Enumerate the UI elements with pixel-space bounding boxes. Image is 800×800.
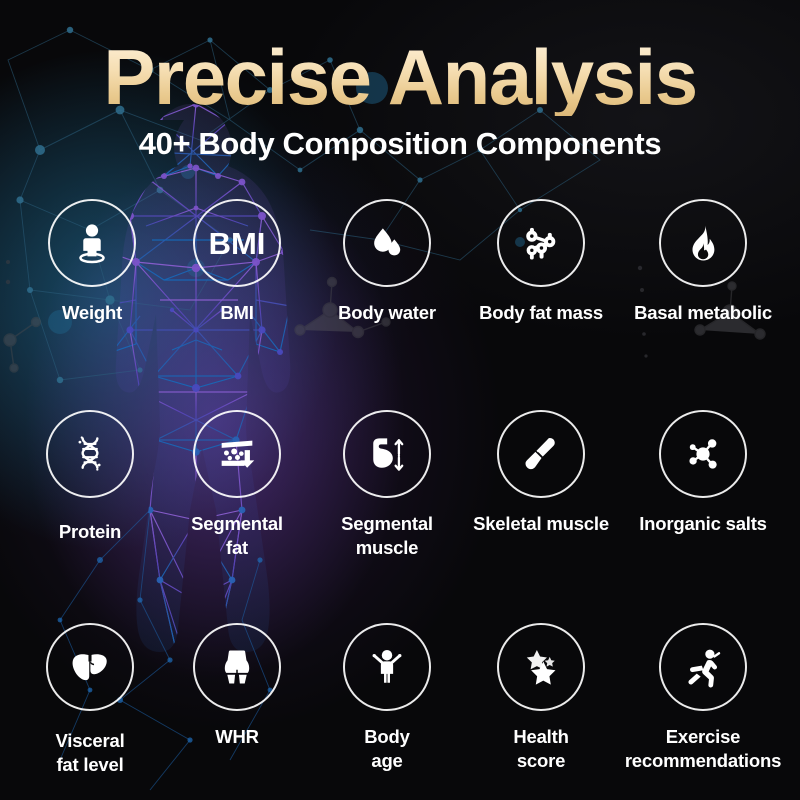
feature-label: Inorganic salts <box>618 512 788 536</box>
feature-label: Segmental fat <box>152 512 322 559</box>
stars-icon <box>497 623 585 711</box>
flame-icon <box>659 199 747 287</box>
page-title: Precise Analysis <box>0 38 800 116</box>
feature-item-basal-metabolic[interactable]: Basal metabolic <box>618 199 788 325</box>
bmi-icon-text: BMI <box>209 228 266 259</box>
page-subtitle: 40+ Body Composition Components <box>0 128 800 159</box>
feature-label: Basal metabolic <box>618 301 788 325</box>
hips-waist-icon <box>193 623 281 711</box>
feature-item-segmental-muscle[interactable]: Segmental muscle <box>302 410 472 559</box>
feature-label: Exercise recommendations <box>618 725 788 772</box>
water-drops-icon <box>343 199 431 287</box>
feature-item-exercise-recommendations[interactable]: Exercise recommendations <box>618 623 788 772</box>
feature-label: Skeletal muscle <box>456 512 626 536</box>
feature-item-health-score[interactable]: Health score <box>456 623 626 772</box>
feature-item-skeletal-muscle[interactable]: Skeletal muscle <box>456 410 626 536</box>
feature-item-inorganic-salts[interactable]: Inorganic salts <box>618 410 788 536</box>
person-arms-up-icon <box>343 623 431 711</box>
fat-layers-arrow-icon <box>193 410 281 498</box>
person-on-scale-icon <box>48 199 136 287</box>
feature-label: Health score <box>456 725 626 772</box>
poster-header: Precise Analysis 40+ Body Composition Co… <box>0 38 800 159</box>
feature-item-visceral-fat-level[interactable]: Visceral fat level <box>5 623 175 776</box>
feature-item-segmental-fat[interactable]: Segmental fat <box>152 410 322 559</box>
feature-label: Segmental muscle <box>302 512 472 559</box>
feature-label: Visceral fat level <box>5 729 175 776</box>
feature-item-body-water[interactable]: Body water <box>302 199 472 325</box>
feature-item-body-age[interactable]: Body age <box>302 623 472 772</box>
bmi-text-icon: BMI <box>193 199 281 287</box>
feature-label: Body water <box>302 301 472 325</box>
feature-item-body-fat-mass[interactable]: Body fat mass <box>456 199 626 325</box>
molecule-star-icon <box>659 410 747 498</box>
infographic-poster: Precise Analysis 40+ Body Composition Co… <box>0 0 800 800</box>
feature-item-whr[interactable]: WHR <box>152 623 322 749</box>
feature-item-bmi[interactable]: BMI BMI <box>152 199 322 325</box>
feature-item-protein[interactable]: Protein <box>5 410 175 544</box>
bone-joint-icon <box>497 410 585 498</box>
feature-label: BMI <box>152 301 322 325</box>
molecule-chain-icon <box>497 199 585 287</box>
dna-helix-icon <box>46 410 134 498</box>
feature-label: Body fat mass <box>456 301 626 325</box>
feature-label: WHR <box>152 725 322 749</box>
liver-icon <box>46 623 134 711</box>
running-person-icon <box>659 623 747 711</box>
bicep-arrows-icon <box>343 410 431 498</box>
feature-label: Protein <box>5 520 175 544</box>
feature-label: Body age <box>302 725 472 772</box>
